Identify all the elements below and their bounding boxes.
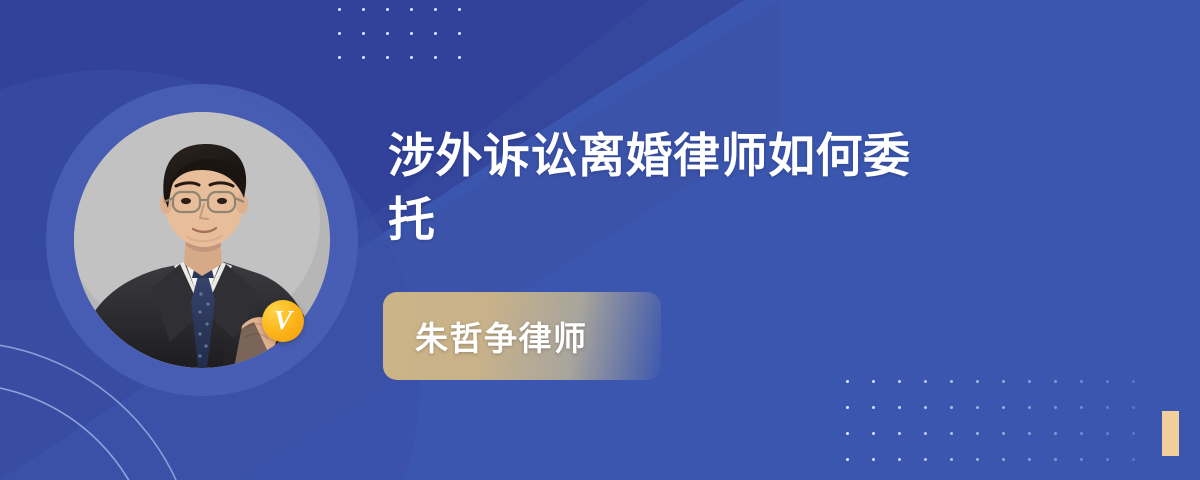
page-title: 涉外诉讼离婚律师如何委 托 — [388, 124, 1178, 252]
page-title-line1: 涉外诉讼离婚律师如何委 — [388, 124, 1178, 188]
avatar: V — [46, 84, 358, 396]
author-name-badge: 朱哲争律师 — [383, 292, 661, 380]
gold-vertical-bar — [1162, 411, 1179, 456]
page-title-line2: 托 — [388, 188, 1178, 252]
author-name-label: 朱哲争律师 — [415, 312, 588, 360]
verified-v-icon: V — [262, 300, 304, 342]
lawyer-article-banner: V 涉外诉讼离婚律师如何委 托 朱哲争律师 — [0, 0, 1200, 480]
gold-accent-circle — [80, 98, 120, 138]
verified-v-glyph: V — [274, 307, 292, 334]
